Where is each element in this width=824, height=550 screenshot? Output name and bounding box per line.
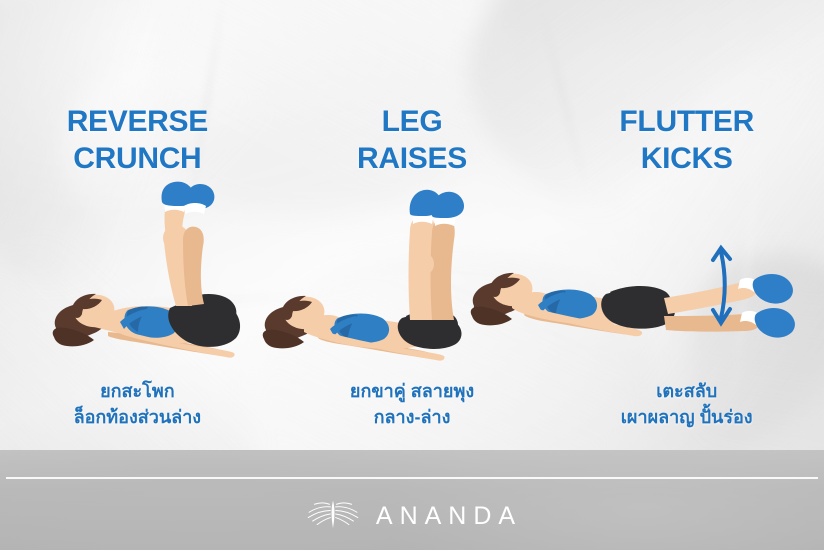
exercise-caption-line1: เตะสลับ bbox=[656, 381, 717, 401]
exercise-title-line1: FLUTTER bbox=[619, 105, 754, 138]
woman-reverse-crunch-figure bbox=[50, 180, 280, 370]
exercise-caption-line2: ล็อกท้องส่วนล่าง bbox=[0, 404, 275, 430]
exercise-title-leg-raises: LEG RAISES bbox=[275, 104, 550, 177]
brand-name: ANANDA bbox=[376, 502, 522, 531]
exercise-caption-flutter-kicks: เตะสลับ เผาผลาญ ปั้นร่อง bbox=[549, 378, 824, 430]
illustration-leg-raises bbox=[262, 180, 492, 370]
exercise-caption-line2: กลาง-ล่าง bbox=[275, 404, 550, 430]
exercise-title-line2: KICKS bbox=[549, 141, 824, 178]
woman-flutter-kicks-figure bbox=[468, 228, 808, 370]
exercise-caption-reverse-crunch: ยกสะโพก ล็อกท้องส่วนล่าง bbox=[0, 378, 275, 430]
exercise-caption-leg-raises: ยกขาคู่ สลายพุง กลาง-ล่าง bbox=[275, 378, 550, 430]
winged-bird-logo-icon bbox=[302, 498, 364, 535]
brand-lockup: ANANDA bbox=[0, 498, 824, 535]
illustration-flutter-kicks bbox=[468, 228, 808, 370]
poster-canvas: REVERSE CRUNCH LEG RAISES FLUTTER KICKS bbox=[0, 0, 824, 550]
exercise-title-line2: RAISES bbox=[275, 141, 550, 178]
woman-leg-raises-figure bbox=[262, 180, 492, 370]
exercise-captions-row: ยกสะโพก ล็อกท้องส่วนล่าง ยกขาคู่ สลายพุง… bbox=[0, 378, 824, 430]
exercise-title-line1: LEG bbox=[382, 105, 443, 138]
exercise-caption-line1: ยกสะโพก bbox=[100, 381, 175, 401]
footer-divider bbox=[6, 477, 818, 479]
exercise-illustrations-row bbox=[0, 180, 824, 370]
exercise-titles-row: REVERSE CRUNCH LEG RAISES FLUTTER KICKS bbox=[0, 104, 824, 177]
exercise-caption-line1: ยกขาคู่ สลายพุง bbox=[350, 381, 474, 401]
exercise-caption-line2: เผาผลาญ ปั้นร่อง bbox=[549, 404, 824, 430]
footer-band: ANANDA bbox=[0, 450, 824, 550]
flutter-motion-arrow-icon bbox=[713, 248, 730, 323]
illustration-reverse-crunch bbox=[50, 180, 280, 370]
exercise-title-line1: REVERSE bbox=[67, 105, 208, 138]
exercise-title-flutter-kicks: FLUTTER KICKS bbox=[549, 104, 824, 177]
exercise-title-reverse-crunch: REVERSE CRUNCH bbox=[0, 104, 275, 177]
exercise-title-line2: CRUNCH bbox=[0, 141, 275, 178]
